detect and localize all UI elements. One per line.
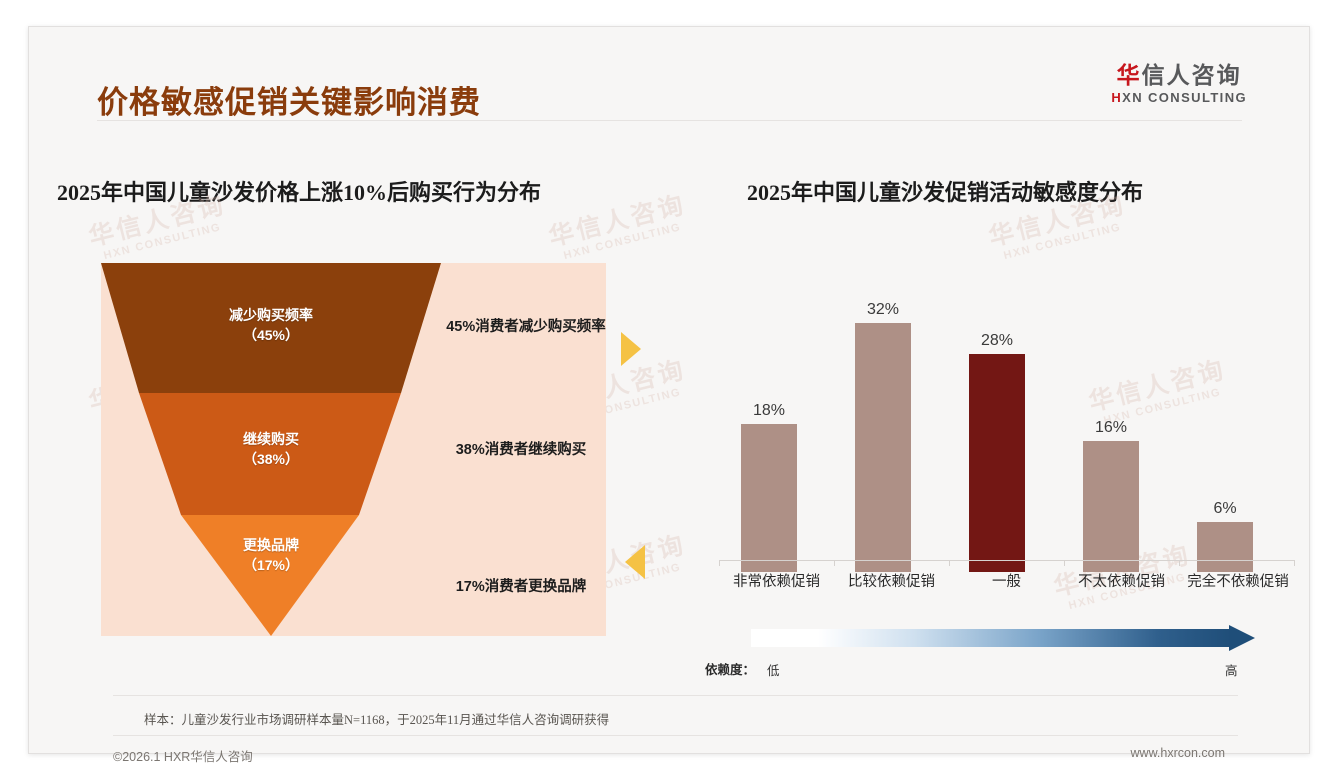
axis-tick [1064, 560, 1065, 566]
footer-website[interactable]: www.hxrcon.com [1131, 746, 1225, 760]
logo-chinese: 华信人咨询 [1111, 63, 1247, 88]
funnel-label-1-value: （45%） [243, 327, 299, 343]
gradient-low-label: 低 [767, 660, 780, 679]
gradient-arrowhead-icon [1229, 625, 1255, 651]
right-chart-title: 2025年中国儿童沙发促销活动敏感度分布 [747, 175, 1143, 207]
logo-english-gray: XN CONSULTING [1122, 90, 1247, 105]
funnel-chart: 减少购买频率 （45%） 继续购买 （38%） 更换品牌 （17%） 45%消费… [101, 263, 606, 636]
x-axis-line [719, 560, 1295, 561]
sample-note: 样本：儿童沙发行业市场调研样本量N=1168，于2025年11月通过华信人咨询调… [144, 709, 609, 728]
funnel-label-2-value: （38%） [243, 451, 299, 467]
watermark-line2: HXN CONSULTING [993, 219, 1132, 265]
footer-divider [113, 735, 1238, 736]
bar-value-label: 6% [1197, 500, 1253, 518]
funnel-note-3: 17%消费者更换品牌 [431, 575, 611, 600]
axis-tick [834, 560, 835, 566]
bar-value-label: 16% [1083, 419, 1139, 437]
funnel-label-2: 继续购买 （38%） [191, 429, 351, 470]
company-logo: 华信人咨询 HXN CONSULTING [1111, 63, 1247, 104]
funnel-label-3-value: （17%） [243, 557, 299, 573]
axis-tick [1294, 560, 1295, 566]
x-axis-label: 完全不依赖促销 [1177, 570, 1299, 591]
logo-english: HXN CONSULTING [1111, 91, 1247, 104]
bar-rect-highlight[interactable] [969, 354, 1025, 572]
watermark-line2: HXN CONSULTING [553, 219, 692, 265]
triangle-left-icon [625, 545, 645, 579]
bar-rect[interactable] [1197, 522, 1253, 572]
bar-value-label: 32% [855, 301, 911, 319]
bar-rect[interactable] [855, 323, 911, 572]
bar-value-label: 18% [741, 402, 797, 420]
watermark-line1: 华信人咨询 [546, 191, 689, 253]
axis-tick [719, 560, 720, 566]
bar-rect[interactable] [1083, 441, 1139, 572]
bar-value-label: 28% [969, 332, 1025, 350]
x-axis-label: 比较依赖促销 [834, 570, 949, 591]
funnel-label-2-name: 继续购买 [243, 431, 299, 447]
logo-chinese-gray: 信人咨询 [1142, 62, 1242, 88]
gradient-legend-label: 依赖度： [705, 659, 755, 678]
triangle-right-icon [621, 332, 641, 366]
funnel-label-1: 减少购买频率 （45%） [191, 305, 351, 346]
footer-copyright: ©2026.1 HXR华信人咨询 [113, 746, 253, 765]
bar-rect[interactable] [741, 424, 797, 572]
left-chart-title: 2025年中国儿童沙发价格上涨10%后购买行为分布 [57, 175, 541, 207]
footnote-divider [113, 695, 1238, 696]
x-axis-label: 一般 [949, 570, 1064, 591]
page-title: 价格敏感促销关键影响消费 [97, 77, 481, 122]
gradient-bar [751, 629, 1231, 647]
logo-english-red: H [1111, 90, 1122, 105]
funnel-label-3: 更换品牌 （17%） [191, 535, 351, 576]
dependency-gradient-arrow [751, 625, 1271, 651]
funnel-note-2: 38%消费者继续购买 [431, 438, 611, 463]
gradient-high-label: 高 [1225, 660, 1238, 679]
slide-card: 价格敏感促销关键影响消费 华信人咨询 HXN CONSULTING 2025年中… [28, 26, 1310, 754]
funnel-note-1: 45%消费者减少购买频率 [446, 315, 606, 340]
axis-tick [949, 560, 950, 566]
x-axis-label: 非常依赖促销 [719, 570, 834, 591]
funnel-label-1-name: 减少购买频率 [229, 307, 313, 323]
header-divider [97, 120, 1242, 121]
funnel-label-3-name: 更换品牌 [243, 537, 299, 553]
watermark: 华信人咨询 HXN CONSULTING [546, 191, 692, 265]
bar-chart: 18% 32% 28% 16% 6% [719, 282, 1299, 572]
x-axis-label: 不太依赖促销 [1064, 570, 1179, 591]
logo-chinese-red: 华 [1117, 62, 1142, 88]
axis-tick [1179, 560, 1180, 566]
watermark-line2: HXN CONSULTING [93, 219, 232, 265]
